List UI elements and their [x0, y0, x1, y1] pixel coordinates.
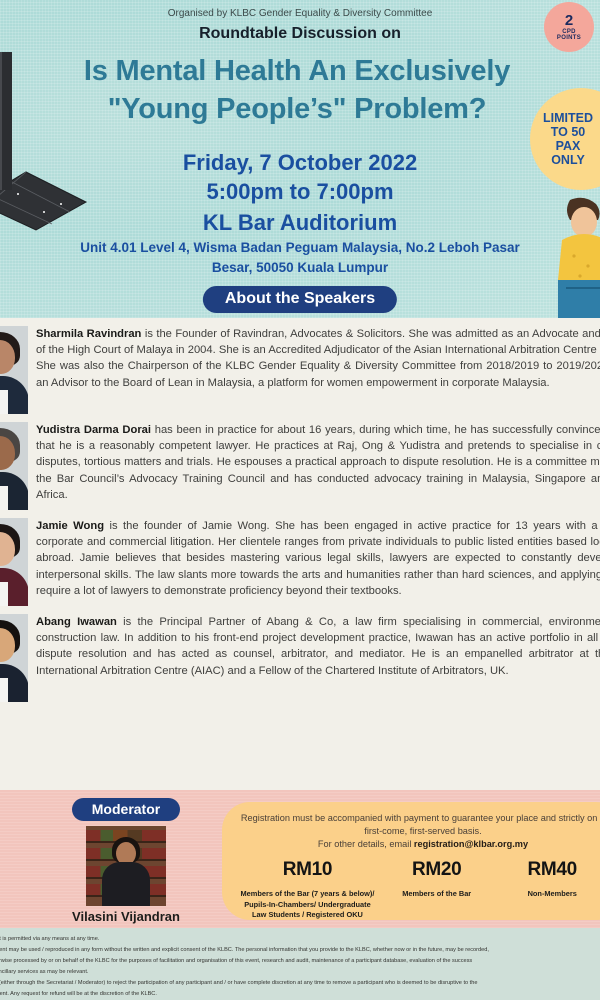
fee-amount: RM20: [382, 859, 492, 881]
footer-fine-print: No recording of the event is permitted v…: [0, 928, 600, 1000]
about-the-speakers-label: About the Speakers: [203, 286, 397, 313]
speaker-photo-sharmila: [0, 326, 28, 414]
speaker-photo-jamie: [0, 518, 28, 606]
title-line-1: Is Mental Health An Exclusively: [84, 55, 510, 87]
fee-description: Non-Members: [497, 889, 600, 899]
registration-note: Registration must be accompanied with pa…: [236, 812, 600, 851]
moderator-label: Moderator: [72, 798, 180, 821]
fee-amount: RM10: [239, 859, 376, 881]
fee-tier: RM40 Non-Members: [494, 859, 600, 920]
title-line-2: "Young People’s" Problem?: [14, 90, 580, 128]
speaker-name: Jamie Wong: [36, 520, 104, 532]
event-time: 5:00pm to 7:00pm: [0, 177, 600, 206]
footer-line: of this event, and such ancillary servic…: [0, 967, 600, 978]
speaker-bio-text: is the Principal Partner of Abang & Co, …: [36, 616, 600, 677]
registration-note-line-3: For other details, email registration@kl…: [236, 838, 600, 851]
registration-email-prefix: For other details, email: [318, 839, 414, 849]
speaker-name: Yudistra Darma Dorai: [36, 424, 151, 436]
moderator-name: Vilasini Vijandran: [52, 909, 200, 924]
footer-line: No part of the event content may be used…: [0, 945, 600, 956]
event-address-line-1: Unit 4.01 Level 4, Wisma Badan Peguam Ma…: [0, 238, 600, 258]
registration-email[interactable]: registration@klbar.org.my: [414, 839, 528, 849]
speaker-bio: Sharmila Ravindran is the Founder of Rav…: [36, 326, 600, 391]
speaker-bio: Jamie Wong is the founder of Jamie Wong.…: [36, 518, 600, 599]
speaker-bio: Abang Iwawan is the Principal Partner of…: [36, 614, 600, 679]
fee-tiers: RM10 Members of the Bar (7 years & below…: [236, 859, 600, 920]
fee-description: Members of the Bar: [382, 889, 492, 899]
footer-lines: No recording of the event is permitted v…: [0, 934, 600, 999]
speaker-name: Abang Iwawan: [36, 616, 117, 628]
speakers-section: Sharmila Ravindran is the Founder of Rav…: [0, 318, 600, 790]
poster-header: 2 CPD POINTS LIMITED TO 50 PAX ONLY Orga…: [0, 0, 600, 318]
registration-fees-card: Registration must be accompanied with pa…: [222, 802, 600, 920]
event-date: Friday, 7 October 2022: [0, 148, 600, 177]
footer-line: No recording of the event is permitted v…: [0, 934, 600, 945]
fee-description: Members of the Bar (7 years & below)/ Pu…: [239, 889, 376, 920]
footer-line: stored, disclosed or otherwise processed…: [0, 956, 600, 967]
speaker-photo-yudistra: [0, 422, 28, 510]
speaker-entry: Jamie Wong is the founder of Jamie Wong.…: [0, 518, 600, 606]
speaker-bio-text: is the founder of Jamie Wong. She has be…: [36, 520, 600, 597]
speaker-photo-abang: [0, 614, 28, 702]
speaker-entry: Yudistra Darma Dorai has been in practic…: [0, 422, 600, 510]
event-type-label: Roundtable Discussion on: [0, 25, 600, 43]
fee-tier: RM20 Members of the Bar: [379, 859, 495, 920]
page-title: Is Mental Health An Exclusively "Young P…: [14, 52, 580, 129]
event-address-line-2: Besar, 50050 Kuala Lumpur: [0, 258, 600, 278]
speaker-entry: Sharmila Ravindran is the Founder of Rav…: [0, 326, 600, 414]
event-poster: 2 CPD POINTS LIMITED TO 50 PAX ONLY Orga…: [0, 0, 600, 1000]
speaker-entry: Abang Iwawan is the Principal Partner of…: [0, 614, 600, 702]
speaker-name: Sharmila Ravindran: [36, 328, 141, 340]
fee-tier: RM10 Members of the Bar (7 years & below…: [236, 859, 379, 920]
registration-note-line-2: first-come, first-served basis.: [236, 825, 600, 838]
event-venue: KL Bar Auditorium: [0, 207, 600, 238]
footer-line: KLBC reserves the right (either through …: [0, 978, 600, 989]
event-details: Friday, 7 October 2022 5:00pm to 7:00pm …: [0, 148, 600, 279]
footer-line: smooth running of the event. Any request…: [0, 989, 600, 1000]
speaker-bio: Yudistra Darma Dorai has been in practic…: [36, 422, 600, 503]
organiser-line: Organised by KLBC Gender Equality & Dive…: [0, 8, 600, 19]
moderator-photo: [86, 826, 166, 906]
registration-note-line-1: Registration must be accompanied with pa…: [236, 812, 600, 825]
moderator-block: Moderator Vilasini Vijandran: [52, 798, 200, 924]
fee-amount: RM40: [497, 859, 600, 881]
